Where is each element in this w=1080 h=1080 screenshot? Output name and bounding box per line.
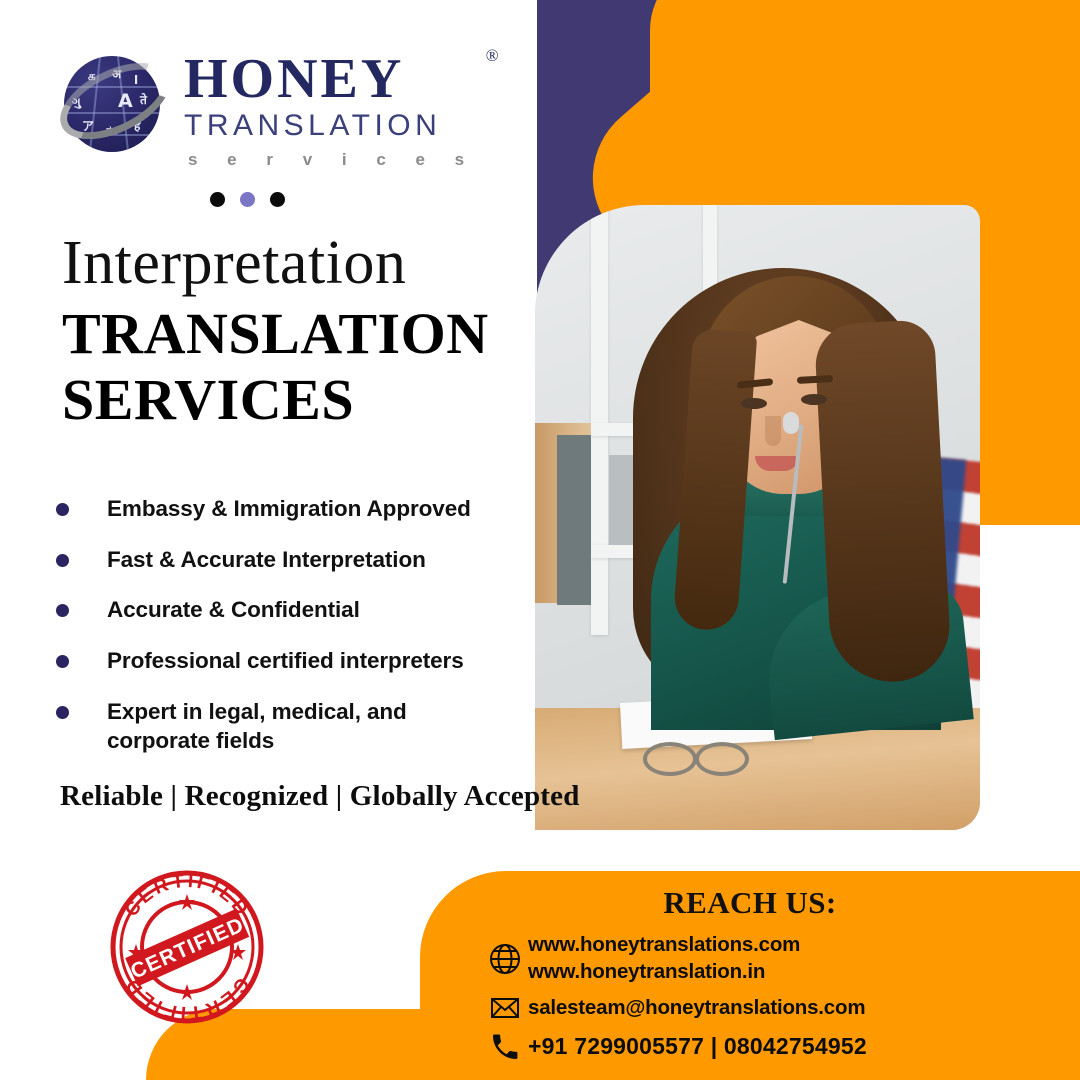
earphone-bud bbox=[783, 412, 799, 434]
email-address[interactable]: salesteam@honeytranslations.com bbox=[528, 995, 865, 1022]
contact-list: www.honeytranslations.com www.honeytrans… bbox=[420, 932, 1080, 1063]
bullet-dot-icon bbox=[56, 604, 69, 617]
list-item: Professional certified interpreters bbox=[56, 646, 526, 676]
contact-row-email[interactable]: salesteam@honeytranslations.com bbox=[482, 992, 1080, 1024]
dot-3 bbox=[270, 192, 285, 207]
bullet-dot-icon bbox=[56, 655, 69, 668]
eye-right bbox=[801, 394, 827, 405]
stamp-banner-text: CERTIFIED bbox=[127, 913, 247, 983]
phone-numbers[interactable]: +91 7299005577 | 08042754952 bbox=[528, 1032, 867, 1062]
poster-canvas: க अ ا ગુ A ते ア ಕನ ह HONEY ® TRAN bbox=[0, 0, 1080, 1080]
eye-left bbox=[741, 398, 767, 409]
certified-stamp-icon: CERTIFIED CERTIFIED CERTIFIED bbox=[108, 868, 266, 1026]
envelope-icon bbox=[482, 992, 528, 1024]
registered-mark: ® bbox=[486, 48, 499, 65]
list-item: Accurate & Confidential bbox=[56, 595, 526, 625]
nose bbox=[765, 416, 781, 446]
globe-logo-icon: க अ ا ગુ A ते ア ಕನ ह bbox=[58, 48, 170, 160]
logo[interactable]: க अ ا ગુ A ते ア ಕನ ह HONEY ® TRAN bbox=[58, 48, 477, 207]
decorative-dots bbox=[210, 192, 477, 207]
photo-content bbox=[535, 205, 980, 830]
phone-icon bbox=[482, 1031, 528, 1063]
list-item: Fast & Accurate Interpretation bbox=[56, 545, 526, 575]
tagline: Reliable | Recognized | Globally Accepte… bbox=[60, 780, 580, 813]
list-item-label: Professional certified interpreters bbox=[107, 646, 464, 676]
list-item-label: Embassy & Immigration Approved bbox=[107, 494, 471, 524]
brand-name-text: HONEY bbox=[184, 48, 404, 110]
hair-right bbox=[814, 319, 953, 685]
page-title: Interpretation TRANSLATION SERVICES bbox=[62, 232, 489, 433]
feature-list: Embassy & Immigration Approved Fast & Ac… bbox=[56, 494, 526, 777]
eyeglasses bbox=[643, 738, 763, 772]
contact-title: REACH US: bbox=[420, 871, 1080, 921]
list-item: Embassy & Immigration Approved bbox=[56, 494, 526, 524]
contact-row-phone[interactable]: +91 7299005577 | 08042754952 bbox=[482, 1031, 1080, 1063]
website-line-1[interactable]: www.honeytranslations.com bbox=[528, 933, 800, 956]
book-b bbox=[557, 435, 591, 605]
contact-panel: REACH US: www.honeytranslations.com www.… bbox=[420, 871, 1080, 1080]
certified-stamp-svg: CERTIFIED CERTIFIED CERTIFIED bbox=[108, 868, 266, 1026]
person-figure bbox=[605, 210, 965, 730]
list-item-label: Fast & Accurate Interpretation bbox=[107, 545, 426, 575]
dot-2 bbox=[240, 192, 255, 207]
headline-bold-1: TRANSLATION bbox=[62, 301, 489, 367]
bullet-dot-icon bbox=[56, 554, 69, 567]
bullet-dot-icon bbox=[56, 706, 69, 719]
logo-row: க अ ا ગુ A ते ア ಕನ ह HONEY ® TRAN bbox=[58, 48, 477, 170]
headline-bold-2: SERVICES bbox=[62, 367, 489, 433]
website-links[interactable]: www.honeytranslations.com www.honeytrans… bbox=[528, 932, 800, 985]
brand-services-label: s e r v i c e s bbox=[184, 150, 477, 170]
list-item-label: Accurate & Confidential bbox=[107, 595, 360, 625]
bullet-dot-icon bbox=[56, 503, 69, 516]
contact-row-website[interactable]: www.honeytranslations.com www.honeytrans… bbox=[482, 932, 1080, 985]
logo-wordmark: HONEY ® TRANSLATION s e r v i c e s bbox=[184, 48, 477, 170]
dot-1 bbox=[210, 192, 225, 207]
list-item: Expert in legal, medical, and corporate … bbox=[56, 697, 526, 756]
headline-script: Interpretation bbox=[62, 232, 489, 295]
website-line-2[interactable]: www.honeytranslation.in bbox=[528, 960, 765, 983]
brand-name: HONEY ® bbox=[184, 52, 477, 107]
list-item-label: Expert in legal, medical, and corporate … bbox=[107, 697, 437, 756]
brand-subtitle: TRANSLATION bbox=[184, 111, 477, 141]
globe-icon bbox=[482, 942, 528, 976]
interpreter-photo bbox=[535, 205, 980, 830]
